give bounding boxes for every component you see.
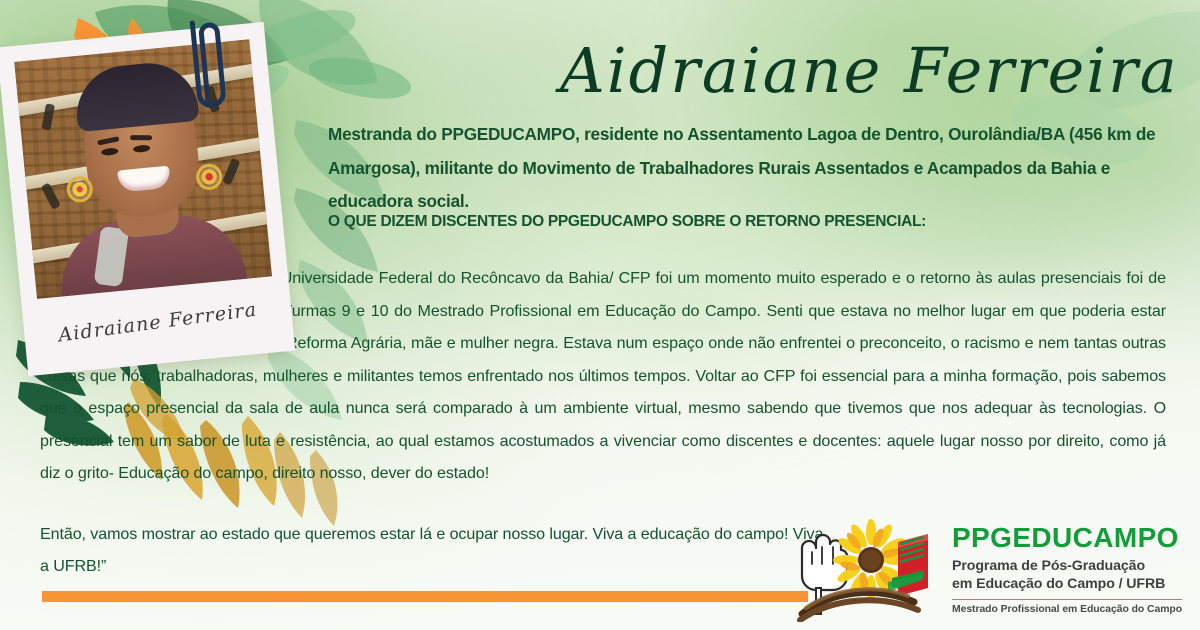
polaroid-photo-card: Aidraiane Ferreira <box>0 22 295 376</box>
logo-mark-icon <box>788 518 940 622</box>
page-title: Aidraiane Ferreira <box>560 26 1180 118</box>
poster-canvas: Aidraiane Ferreira Aidraiane Ferreira Me… <box>0 0 1200 630</box>
portrait-eyebrow <box>130 135 152 140</box>
bio-paragraph: Mestranda do PPGEDUCAMPO, residente no A… <box>328 118 1162 219</box>
logo-title: PPGEDUCAMPO <box>952 524 1182 552</box>
ppgeducampo-logo: PPGEDUCAMPO Programa de Pós-Graduação em… <box>788 518 1182 622</box>
logo-footer: Mestrado Profissional em Educação do Cam… <box>952 605 1182 615</box>
section-kicker: O QUE DIZEM DISCENTES DO PPGEDUCAMPO SOB… <box>328 213 1162 231</box>
portrait-photo <box>14 39 272 299</box>
logo-subtitle: Programa de Pós-Graduação em Educação do… <box>952 557 1182 593</box>
earring-icon <box>195 163 223 191</box>
orange-divider-bar <box>42 591 808 602</box>
quote-paragraph-2: Então, vamos mostrar ao estado que quere… <box>40 518 830 583</box>
logo-text-block: PPGEDUCAMPO Programa de Pós-Graduação em… <box>952 524 1182 616</box>
logo-subtitle-line-2: em Educação do Campo / UFRB <box>952 575 1182 593</box>
logo-divider <box>952 599 1182 600</box>
logo-subtitle-line-1: Programa de Pós-Graduação <box>952 557 1182 575</box>
polaroid-frame: Aidraiane Ferreira <box>0 22 295 376</box>
